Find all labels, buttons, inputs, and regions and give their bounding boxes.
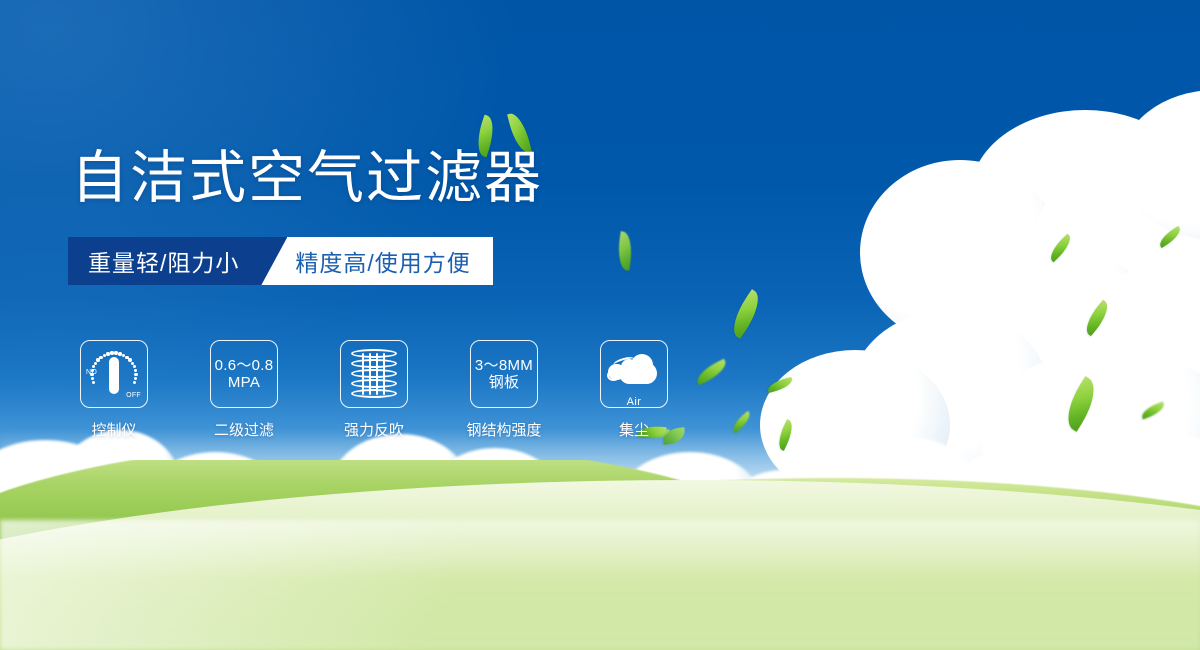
filter-cartridge-icon [351, 349, 397, 399]
grass-highlight [0, 520, 1200, 650]
feature-steel-strength[interactable]: 3～8MM 钢板 钢结构强度 [470, 340, 538, 440]
steel-value-line1: 3～8MM [475, 357, 533, 374]
air-cloud-icon: Air [609, 352, 659, 396]
pressure-value-line1: 0.6～0.8 [215, 357, 274, 374]
grass-field [0, 460, 1200, 650]
air-label: Air [609, 396, 659, 408]
tagline-secondary: 精度高/使用方便 [287, 237, 492, 285]
feature-two-stage-filter[interactable]: 0.6～0.8 MPA 二级过滤 [210, 340, 278, 440]
tagline: 重量轻/阻力小 精度高/使用方便 [68, 237, 493, 285]
page-title: 自洁式空气过滤器 [71, 146, 543, 210]
feature-label: 钢结构强度 [467, 419, 542, 440]
tagline-primary: 重量轻/阻力小 [68, 237, 261, 285]
feature-controller[interactable]: NO OFF 控制仪 [80, 340, 148, 440]
feature-icon-box: NO OFF [80, 340, 148, 408]
banner-root: 自洁式空气过滤器 重量轻/阻力小 精度高/使用方便 NO OFF 控制仪 0.6… [0, 0, 1200, 650]
gauge-needle [109, 357, 119, 394]
gauge-off-label: OFF [126, 392, 141, 399]
feature-icon-box: Air [600, 340, 668, 408]
gauge-icon: NO OFF [87, 348, 141, 400]
feature-label: 集尘 [619, 419, 649, 440]
tagline-divider [261, 237, 287, 285]
pressure-value-line2: MPA [228, 374, 260, 391]
feature-dust-collection[interactable]: Air 集尘 [600, 340, 668, 440]
feature-icon-box: 0.6～0.8 MPA [210, 340, 278, 408]
feature-label: 控制仪 [91, 419, 136, 440]
feature-blowback[interactable]: 强力反吹 [340, 340, 408, 440]
steel-value-line2: 钢板 [489, 374, 520, 391]
feature-label: 二级过滤 [214, 419, 274, 440]
feature-icon-box [340, 340, 408, 408]
feature-label: 强力反吹 [344, 419, 404, 440]
feature-list: NO OFF 控制仪 0.6～0.8 MPA 二级过滤 [80, 340, 668, 440]
feature-icon-box: 3～8MM 钢板 [470, 340, 538, 408]
